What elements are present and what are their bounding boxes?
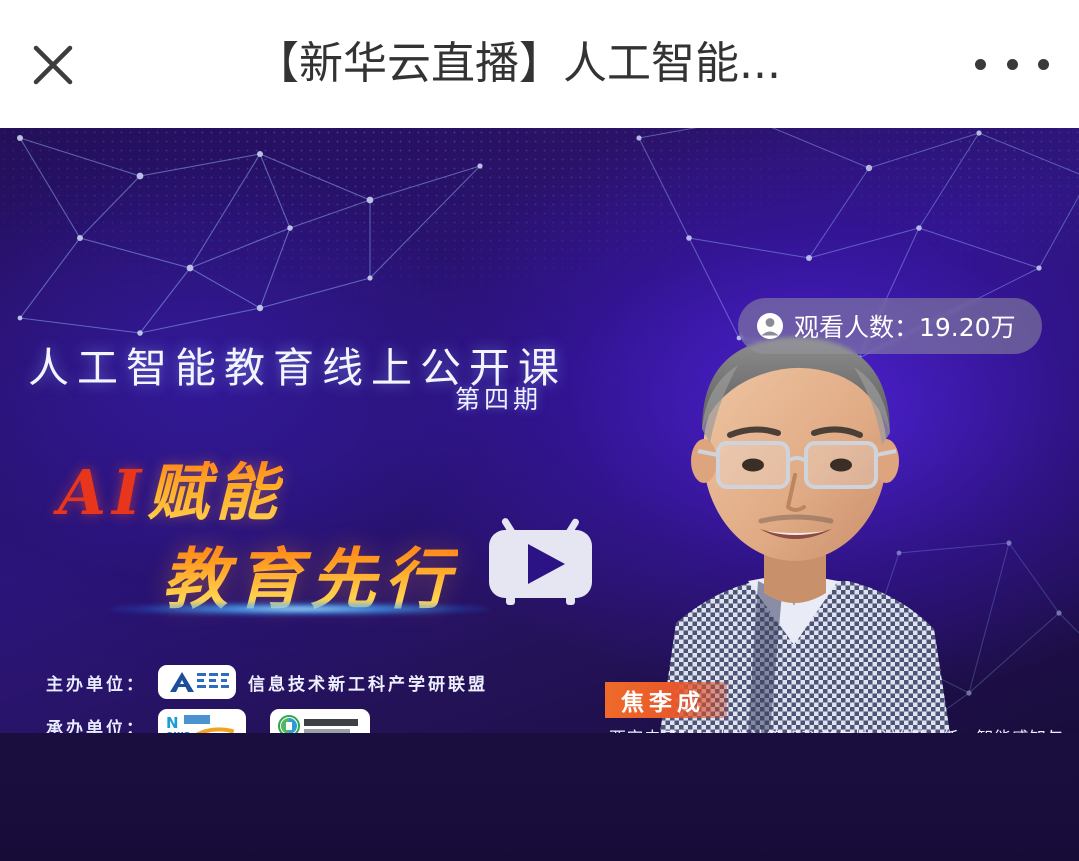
sponsor-name-organizer: 信息技术新工科产学研联盟 <box>248 670 488 695</box>
xinhua-news-logo: N ews <box>158 709 246 733</box>
live-stream-player[interactable]: 人工智能教育线上公开课 第四期 AI赋能 教育先行 主办单位： <box>0 128 1079 733</box>
sponsor-label-organizer: 主办单位： <box>46 670 146 695</box>
aeee-logo <box>158 665 236 699</box>
more-horizontal-icon-dot-3 <box>1038 59 1049 70</box>
sponsor-row-organizer: 主办单位： 信息技术新工科产学研联盟 <box>46 665 488 699</box>
play-button[interactable] <box>483 511 598 611</box>
viewer-count-text: 观看人数：19.20万 <box>794 308 1016 344</box>
zhongjiao-media-logo <box>270 709 370 733</box>
speaker-name-banner: 焦李成 <box>605 682 727 718</box>
poster-slogan-fuNeng: 赋能 <box>147 456 283 529</box>
person-icon <box>756 312 784 340</box>
sponsor-label-host: 承办单位： <box>46 714 146 734</box>
speaker-bio: 西安电子科技大学计算机科学与技术学部主任，智能感知与图像理解教育部重点实验室主任… <box>609 726 1071 733</box>
below-player-area <box>0 733 1079 861</box>
page-title: 【新华云直播】人工智能... <box>255 26 875 102</box>
speaker-portrait <box>598 293 1008 733</box>
poster-subtitle: 第四期 <box>455 380 542 416</box>
more-options-button[interactable] <box>975 44 1049 84</box>
svg-text:ews: ews <box>166 728 191 733</box>
poster-slogan-ai: AI <box>58 456 147 529</box>
poster-slogan-line-2: 教育先行 <box>162 526 458 622</box>
tv-play-icon <box>483 511 598 611</box>
sponsor-row-host: 承办单位： N ews <box>46 709 382 733</box>
more-horizontal-icon-dot-2 <box>1007 59 1018 70</box>
viewer-count-badge[interactable]: 观看人数：19.20万 <box>738 298 1042 354</box>
poster-slogan-line-1: AI赋能 <box>58 442 283 532</box>
close-button[interactable] <box>22 36 84 94</box>
close-icon <box>29 41 77 89</box>
top-navigation-bar: 【新华云直播】人工智能... <box>0 0 1079 128</box>
more-horizontal-icon-dot-1 <box>975 59 986 70</box>
speaker-name: 焦李成 <box>621 683 705 717</box>
